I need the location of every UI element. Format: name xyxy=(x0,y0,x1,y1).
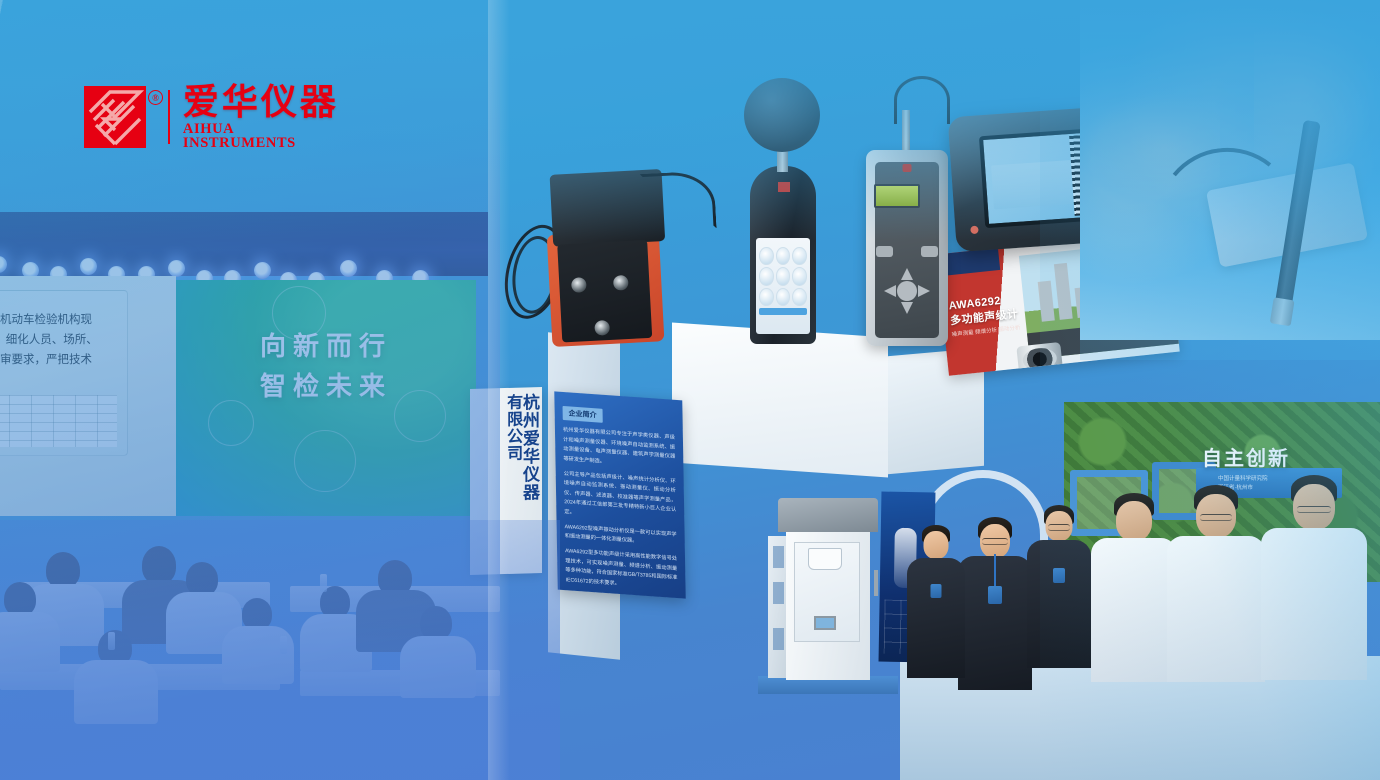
registered-trademark-icon: ® xyxy=(148,90,163,105)
logo-name-cn: 爱华仪器 xyxy=(183,84,342,120)
company-logo: ® 爱华仪器 AIHUA INSTRUMENTS xyxy=(84,78,342,156)
logo-name-en: AIHUA INSTRUMENTS xyxy=(183,122,342,151)
logo-wordmark: 爱华仪器 AIHUA INSTRUMENTS xyxy=(183,84,342,151)
aihua-diamond-logo-icon: ® xyxy=(84,86,146,148)
logo-divider xyxy=(168,90,170,144)
banner-canvas: 向新而行 智检未来 查《机动车检验机构现 表》，细化人员、场所、 的评审要求，严… xyxy=(0,0,1380,780)
